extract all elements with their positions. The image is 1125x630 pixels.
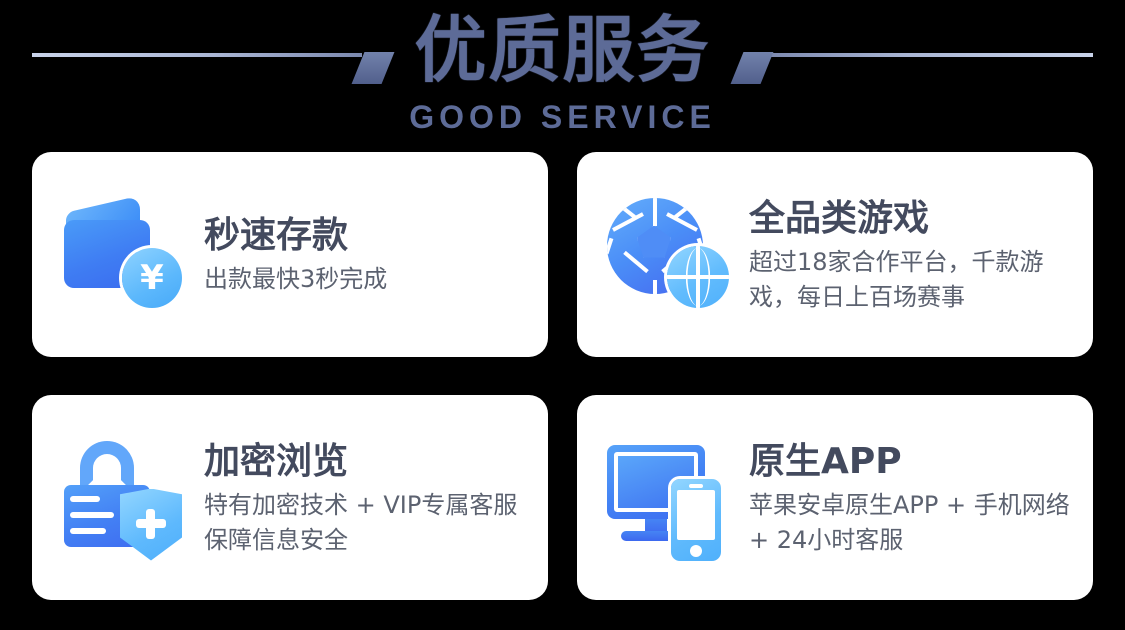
card-text-block: 加密浏览 特有加密技术 + VIP专属客服保障信息安全 [204,438,530,558]
shield-plus-icon [120,489,182,561]
soccer-pentagon [637,226,671,258]
card-title: 加密浏览 [204,440,530,484]
card-description: 出款最快3秒完成 [204,262,530,297]
card-title: 原生APP [749,440,1075,484]
wallet-yen-icon: ¥ [60,190,190,320]
card-text-block: 原生APP 苹果安卓原生APP + 手机网络 + 24小时客服 [749,438,1075,558]
basketball-seam [686,248,710,306]
soccer-seam [617,202,637,219]
phone-icon [671,479,721,561]
card-text-block: 全品类游戏 超过18家合作平台，千款游戏，每日上百场赛事 [749,195,1075,315]
lock-shield-plus-icon [60,433,190,563]
yen-coin-icon: ¥ [122,248,182,308]
phone-home-button [690,545,702,557]
feature-card-grid: ¥ 秒速存款 出款最快3秒完成 [32,152,1093,600]
soccer-basketball-icon [605,190,735,320]
monitor-phone-icon [605,433,735,563]
soccer-seam [653,198,657,226]
soccer-seam [607,237,613,253]
phone-screen [677,490,715,540]
soccer-seam [666,212,698,231]
basketball-icon [667,246,729,308]
card-description: 苹果安卓原生APP + 手机网络 + 24小时客服 [749,488,1075,558]
soccer-seam [653,280,657,294]
feature-card-games[interactable]: 全品类游戏 超过18家合作平台，千款游戏，每日上百场赛事 [577,152,1093,357]
lock-slot [70,528,106,534]
page-title: 优质服务 [0,8,1125,92]
yen-symbol: ¥ [140,261,164,295]
card-title: 秒速存款 [204,214,530,258]
card-title: 全品类游戏 [749,197,1075,241]
card-description: 超过18家合作平台，千款游戏，每日上百场赛事 [749,245,1075,315]
card-description: 特有加密技术 + VIP专属客服保障信息安全 [204,488,530,558]
page-header: 优质服务 GOOD SERVICE [0,0,1125,145]
feature-card-deposit[interactable]: ¥ 秒速存款 出款最快3秒完成 [32,152,548,357]
lock-slot [70,512,114,518]
feature-card-native-app[interactable]: 原生APP 苹果安卓原生APP + 手机网络 + 24小时客服 [577,395,1093,600]
soccer-seam [673,202,693,219]
page-subtitle: GOOD SERVICE [0,99,1125,135]
card-text-block: 秒速存款 出款最快3秒完成 [204,212,530,297]
lock-slot [70,496,100,502]
phone-speaker [689,484,703,488]
feature-card-encryption[interactable]: 加密浏览 特有加密技术 + VIP专属客服保障信息安全 [32,395,548,600]
